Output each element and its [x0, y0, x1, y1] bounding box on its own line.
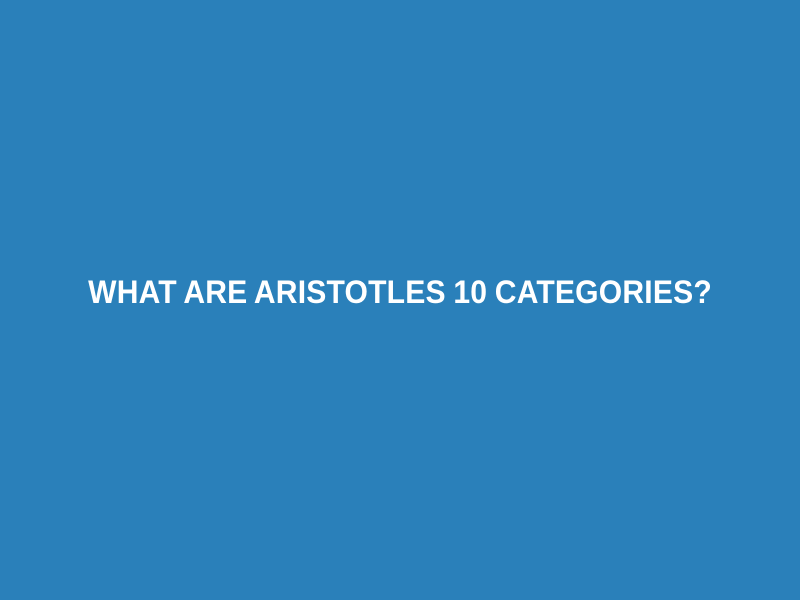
headline-container: WHAT ARE ARISTOTLES 10 CATEGORIES? [0, 274, 800, 311]
featured-image-card: WHAT ARE ARISTOTLES 10 CATEGORIES? [0, 0, 800, 600]
headline-title: WHAT ARE ARISTOTLES 10 CATEGORIES? [77, 274, 724, 311]
